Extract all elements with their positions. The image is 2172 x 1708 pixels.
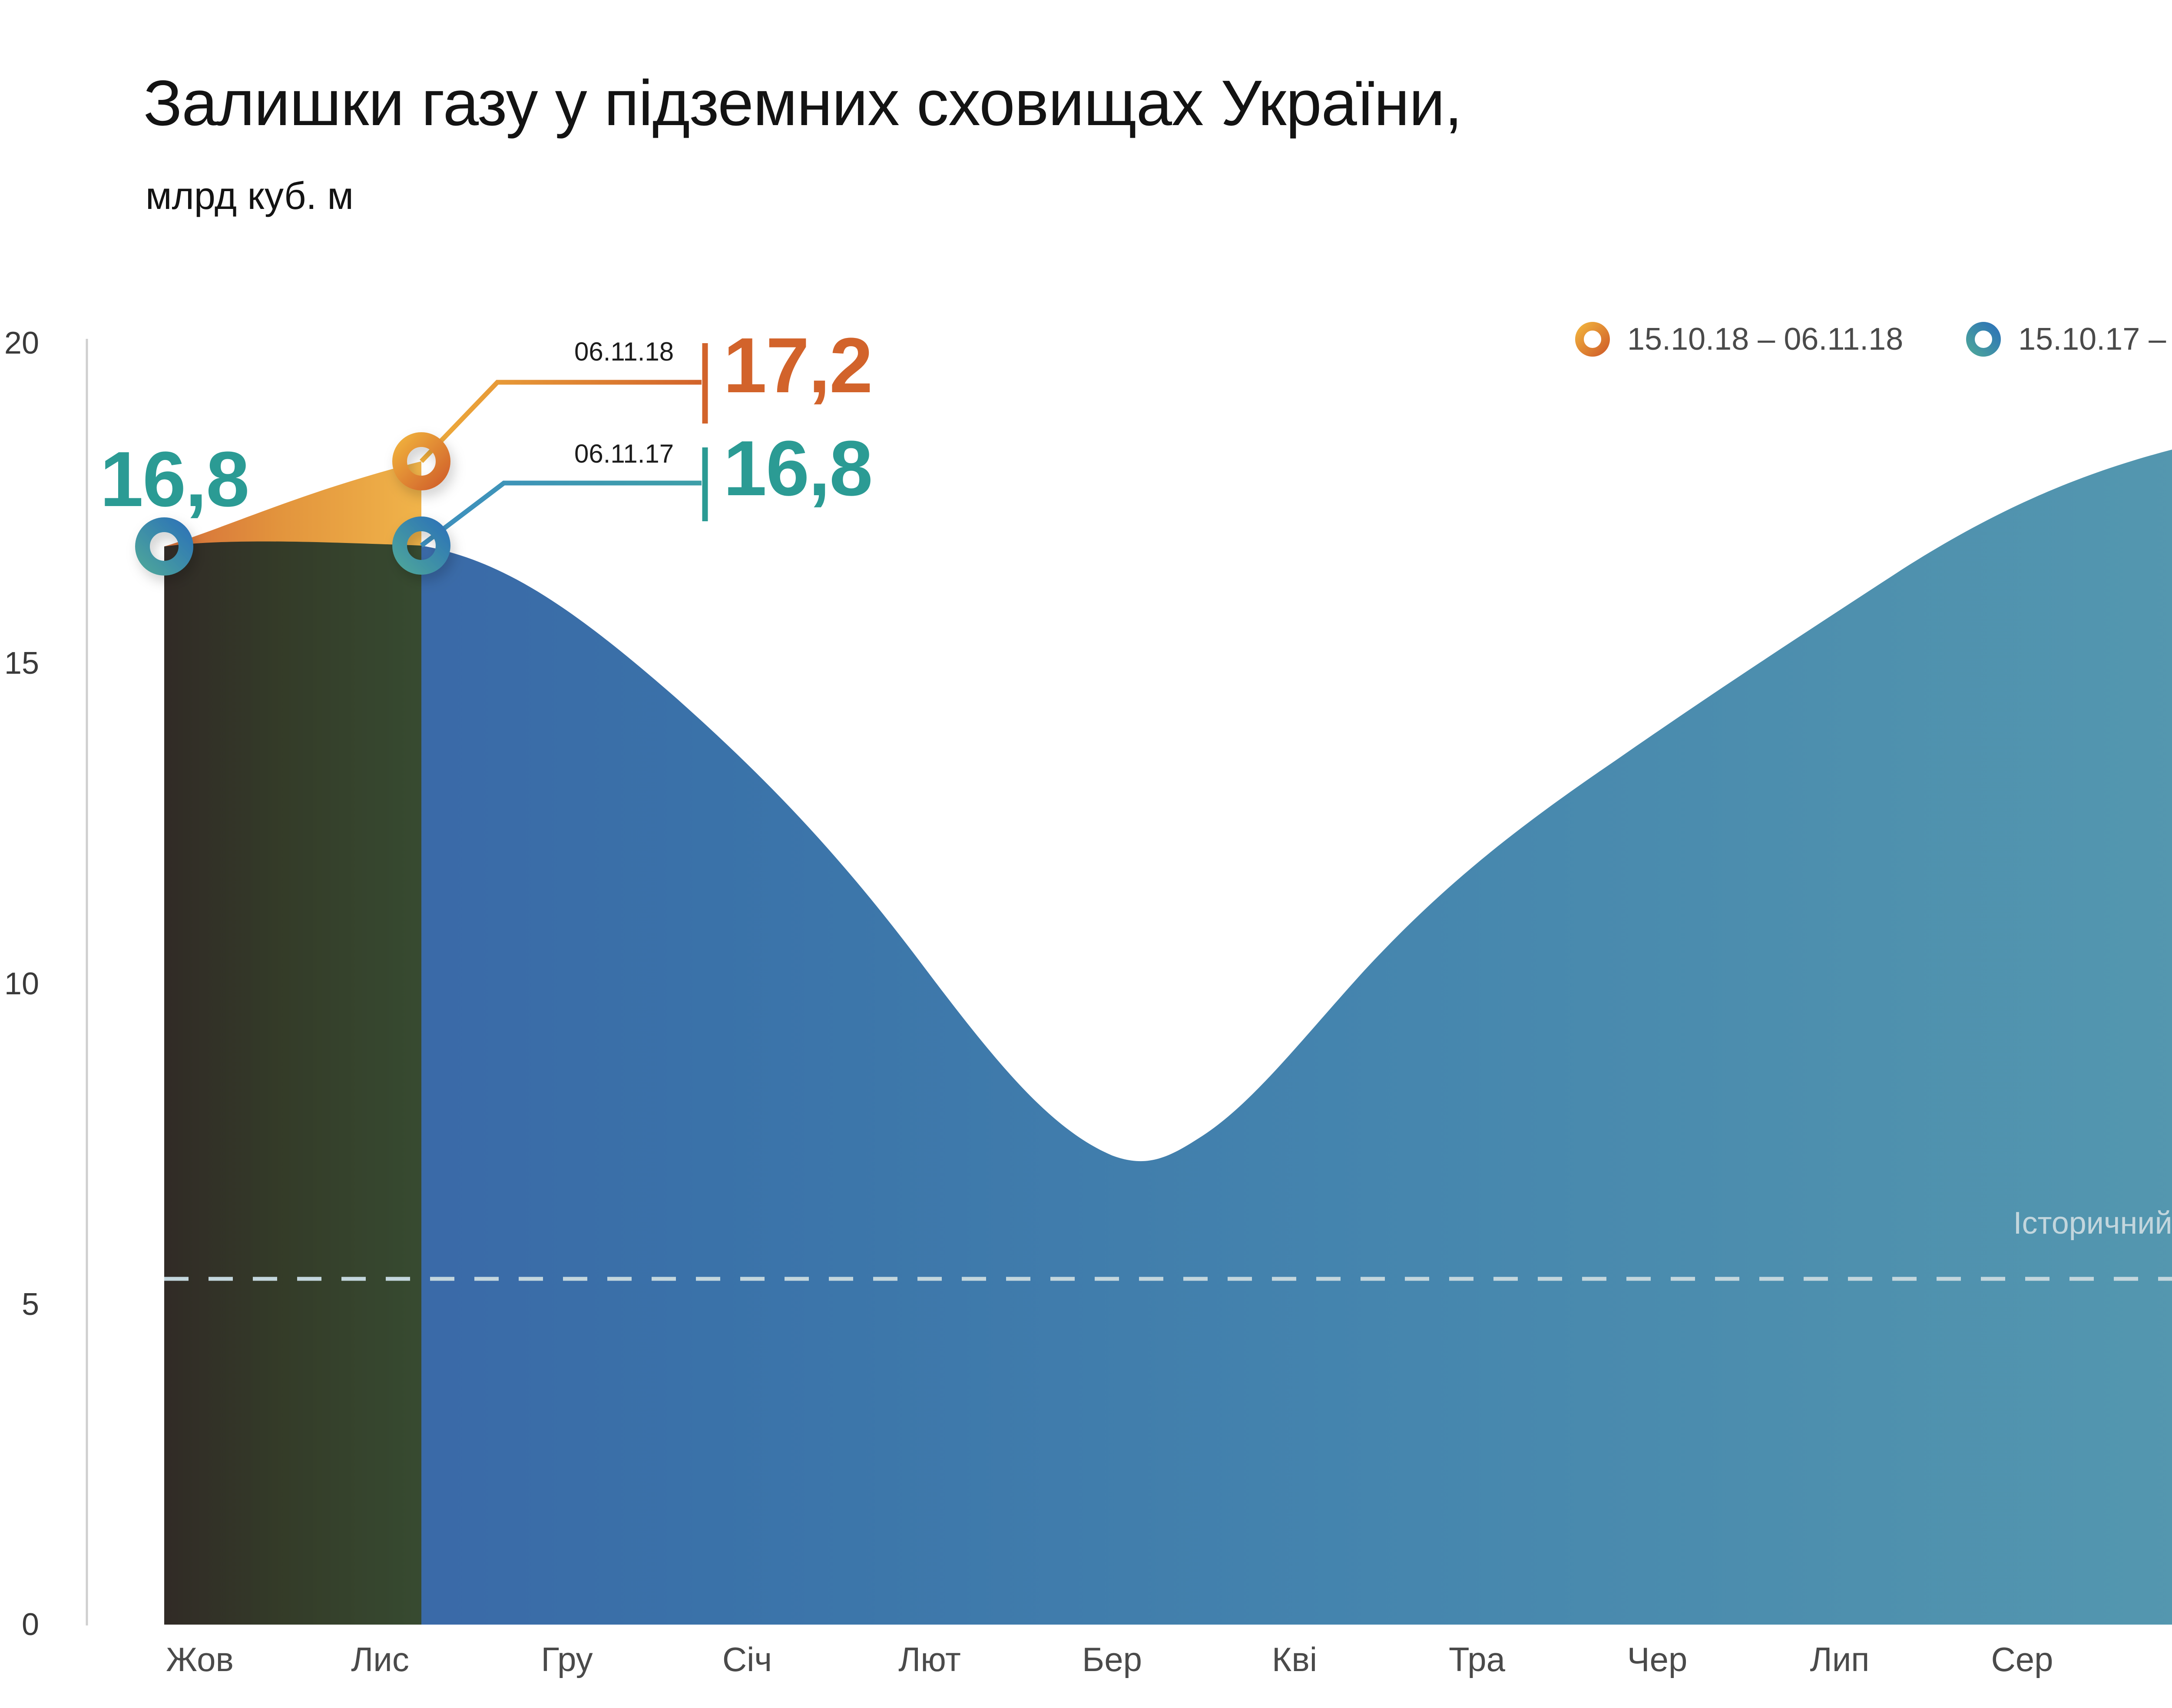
start-value-label: 16,8 <box>100 434 248 524</box>
y-tick-20: 20 <box>0 325 39 361</box>
legend-item-blue[interactable]: 15.10.17 – 15.10.18 <box>1963 319 2172 359</box>
y-tick-5: 5 <box>0 1287 39 1322</box>
x-tick-sich: Січ <box>660 1640 834 1679</box>
ring-icon-blue <box>1963 319 2003 359</box>
legend-label-blue: 15.10.17 – 15.10.18 <box>2018 321 2172 357</box>
series-area-orange <box>164 461 421 1625</box>
series-area-blue <box>164 421 2172 1625</box>
x-tick-ber: Бер <box>1025 1640 1199 1679</box>
callout-date-061117: 06.11.17 <box>574 439 674 469</box>
x-tick-tra: Тра <box>1390 1640 1564 1679</box>
ring-icon-orange <box>1573 319 1612 359</box>
gas-storage-area-chart <box>0 0 2172 1708</box>
x-tick-ver: Вер <box>2118 1640 2172 1679</box>
x-tick-kvi: Кві <box>1208 1640 1381 1679</box>
callout-connector-blue <box>421 483 702 546</box>
callout-value-168: 16,8 <box>723 424 872 513</box>
y-tick-10: 10 <box>0 966 39 1002</box>
y-tick-15: 15 <box>0 645 39 681</box>
historic-minimum-label: Історичний мінімум <box>2013 1205 2172 1241</box>
x-tick-hru: Гру <box>480 1640 654 1679</box>
x-tick-cher: Чер <box>1570 1640 1744 1679</box>
x-tick-ser: Сер <box>1935 1640 2109 1679</box>
y-tick-0: 0 <box>0 1607 39 1642</box>
legend-item-orange[interactable]: 15.10.18 – 06.11.18 <box>1573 319 1903 359</box>
x-tick-lyut: Лют <box>843 1640 1016 1679</box>
x-tick-zhov: Жов <box>113 1640 287 1679</box>
legend-label-orange: 15.10.18 – 06.11.18 <box>1627 321 1903 357</box>
x-tick-lys: Лис <box>293 1640 467 1679</box>
x-tick-lyp: Лип <box>1753 1640 1927 1679</box>
callout-date-061118: 06.11.18 <box>574 337 674 367</box>
callout-value-171: 17,2 <box>723 321 872 410</box>
